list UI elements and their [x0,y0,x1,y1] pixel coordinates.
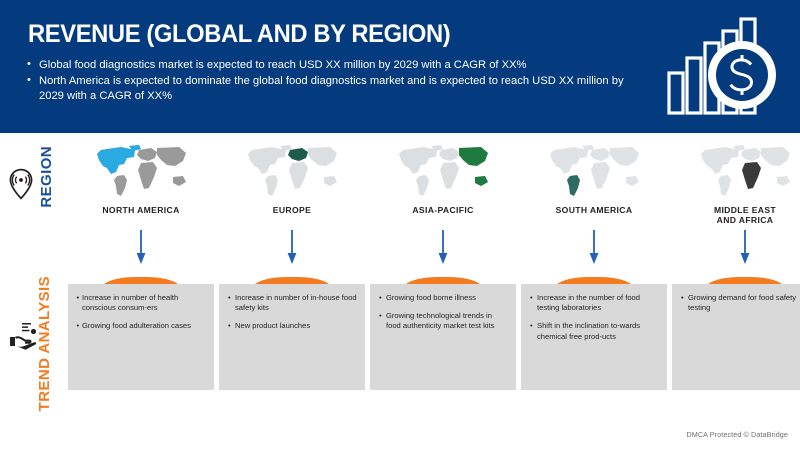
region-name-label: MIDDLE EASTAND AFRICA [672,205,800,225]
region-column-1: NORTH AMERICA [68,144,214,215]
trend-bullet: Growing demand for food safety testing [681,293,800,313]
page-title: REVENUE (GLOBAL AND BY REGION) [28,20,450,49]
region-name-label: SOUTH AMERICA [521,205,667,215]
region-name-label: ASIA-PACIFIC [370,205,516,215]
slide-canvas: REVENUE (GLOBAL AND BY REGION) Global fo… [0,0,800,450]
trend-rail-label: TREND ANALYSIS [36,276,53,411]
world-map-europe-highlight-icon [242,144,342,200]
down-arrow-icon [68,228,214,268]
down-arrow-icon [370,228,516,268]
region-column-4: SOUTH AMERICA [521,144,667,215]
trend-box-2: Increase in number of in-house food safe… [219,284,365,390]
region-rail-label: REGION [38,146,55,208]
region-column-5: MIDDLE EASTAND AFRICA [672,144,800,225]
trend-bullet-list: Growing food borne illnessGrowing techno… [370,284,516,332]
trend-bullet-list: Increase in number of in-house food safe… [219,284,365,332]
header-bullet: North America is expected to dominate th… [26,74,646,105]
header-bullet: Global food diagnostics market is expect… [26,58,646,74]
dollar-bar-chart-icon [666,10,786,122]
header-bullet-list: Global food diagnostics market is expect… [26,58,646,105]
region-name-label: NORTH AMERICA [68,205,214,215]
trend-bullet: Growing technological trends in food aut… [379,311,508,331]
region-name-label: EUROPE [219,205,365,215]
location-pin-icon [8,168,34,200]
world-map-middle-east-africa-highlight-icon [695,144,795,200]
world-map-south-america-highlight-icon [544,144,644,200]
down-arrow-icon [521,228,667,268]
trend-bullet: Increase in number of health conscious c… [77,293,206,313]
down-arrow-icon [219,228,365,268]
trend-box-4: Increase in the number of food testing l… [521,284,667,390]
trend-bullet-list: Increase in number of health conscious c… [68,284,214,332]
trend-bullet-list: Growing demand for food safety testing [672,284,800,313]
region-column-2: EUROPE [219,144,365,215]
footer-copyright: DMCA Protected © DataBridge [687,430,788,439]
trend-bullet: Increase in number of in-house food safe… [228,293,357,313]
trend-bullet: New product launches [228,321,357,331]
header-banner: REVENUE (GLOBAL AND BY REGION) Global fo… [0,0,800,133]
trend-box-5: Growing demand for food safety testing [672,284,800,390]
trend-box-3: Growing food borne illnessGrowing techno… [370,284,516,390]
world-map-north-america-highlight-icon [91,144,191,200]
trend-bullet: Growing food borne illness [379,293,508,303]
world-map-asia-pacific-highlight-icon [393,144,493,200]
trend-box-1: Increase in number of health conscious c… [68,284,214,390]
region-column-3: ASIA-PACIFIC [370,144,516,215]
down-arrow-icon [672,228,800,268]
trend-bullet-list: Increase in the number of food testing l… [521,284,667,342]
trend-bullet: Shift in the inclination to-wards chemic… [530,321,659,341]
trend-bullet: Increase in the number of food testing l… [530,293,659,313]
trend-bullet: Growing food adulteration cases [77,321,206,331]
